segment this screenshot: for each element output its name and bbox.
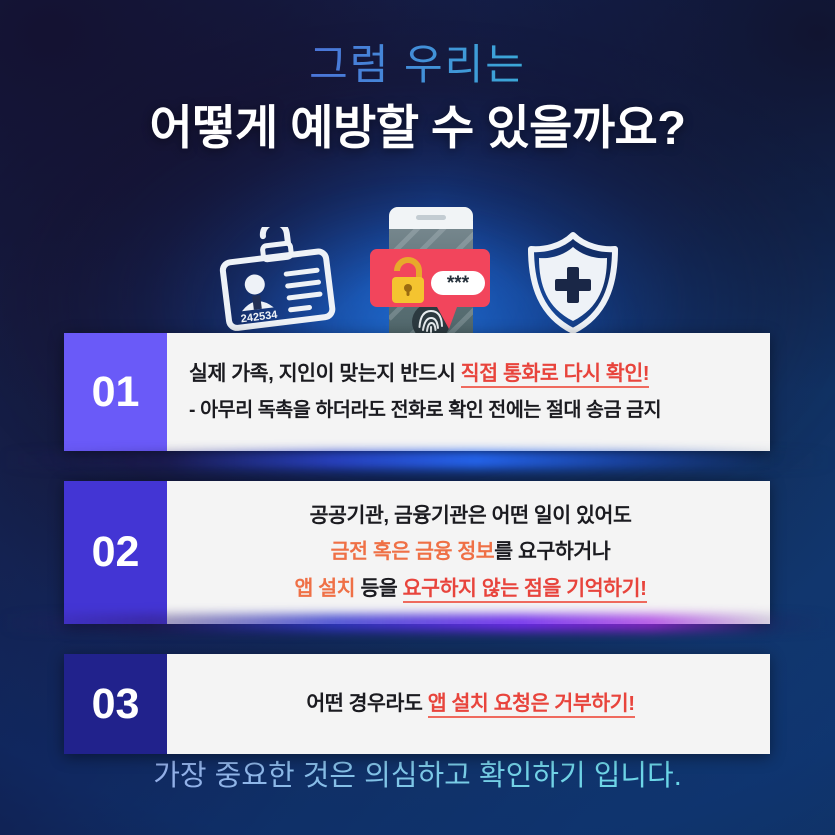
- tip-text-plain: 실제 가족, 지인이 맞는지 반드시: [189, 362, 461, 385]
- tip-text-highlight: 요구하지 않는 점을 기억하기!: [403, 577, 647, 603]
- tip-text-highlight: 앱 설치: [294, 577, 355, 600]
- tip-text-plain: 등을: [355, 577, 403, 600]
- tip-line-02-1: 공공기관, 금융기관은 어떤 일이 있어도: [189, 498, 752, 534]
- icon-row: 242534: [0, 192, 835, 342]
- phone-password-alert-icon-slot: ***: [367, 199, 493, 342]
- id-badge-icon-slot: 242534: [211, 227, 339, 342]
- header-block: 그럼 우리는 어떻게 예방할 수 있을까요?: [0, 42, 835, 155]
- tip-line-03-1: 어떤 경우라도 앱 설치 요청은 거부하기!: [189, 686, 752, 722]
- tip-text-highlight: 앱 설치 요청은 거부하기!: [428, 692, 635, 718]
- shield-plus-icon-slot: [521, 229, 625, 342]
- tip-card-03[interactable]: 03 어떤 경우라도 앱 설치 요청은 거부하기!: [64, 654, 770, 754]
- tip-line-01-2: - 아무리 독촉을 하더라도 전화로 확인 전에는 절대 송금 금지: [189, 393, 752, 428]
- card-gap-glow-blue: [0, 451, 835, 469]
- tips-list: 01 실제 가족, 지인이 맞는지 반드시 직접 통화로 다시 확인! - 아무…: [64, 333, 770, 754]
- header-eyebrow: 그럼 우리는: [0, 42, 835, 88]
- tip-body-03: 어떤 경우라도 앱 설치 요청은 거부하기!: [167, 654, 770, 754]
- tip-number-01: 01: [64, 333, 167, 451]
- tip-text-highlight: 금전 혹은 금융 정보: [331, 540, 495, 563]
- footer-tagline: 가장 중요한 것은 의심하고 확인하기 입니다.: [0, 752, 835, 794]
- tip-text-plain: 공공기관, 금융기관은 어떤 일이 있어도: [310, 504, 632, 527]
- tip-card-01[interactable]: 01 실제 가족, 지인이 맞는지 반드시 직접 통화로 다시 확인! - 아무…: [64, 333, 770, 451]
- tip-card-02[interactable]: 02 공공기관, 금융기관은 어떤 일이 있어도 금전 혹은 금융 정보를 요구…: [64, 481, 770, 624]
- tip-body-01: 실제 가족, 지인이 맞는지 반드시 직접 통화로 다시 확인! - 아무리 독…: [167, 333, 770, 451]
- tip-line-02-2: 금전 혹은 금융 정보를 요구하거나: [189, 534, 752, 570]
- tip-number-02: 02: [64, 481, 167, 624]
- password-mask-text: ***: [446, 273, 469, 294]
- tip-text-highlight: 직접 통화로 다시 확인!: [461, 362, 649, 388]
- tip-number-03: 03: [64, 654, 167, 754]
- phone-password-alert-icon: ***: [367, 199, 493, 349]
- footer-block: 가장 중요한 것은 의심하고 확인하기 입니다.: [0, 752, 835, 794]
- tip-text-plain: - 아무리 독촉을 하더라도 전화로 확인 전에는 절대 송금 금지: [189, 399, 661, 421]
- tip-text-plain: 를 요구하거나: [494, 540, 610, 563]
- shield-plus-icon: [521, 229, 625, 337]
- tip-text-plain: 어떤 경우라도: [306, 692, 427, 715]
- tip-line-01-1: 실제 가족, 지인이 맞는지 반드시 직접 통화로 다시 확인!: [189, 356, 752, 392]
- page-title: 어떻게 예방할 수 있을까요?: [0, 102, 835, 155]
- infographic-canvas: 그럼 우리는 어떻게 예방할 수 있을까요?: [0, 0, 835, 835]
- id-badge-icon: 242534: [211, 227, 339, 337]
- tip-body-02: 공공기관, 금융기관은 어떤 일이 있어도 금전 혹은 금융 정보를 요구하거나…: [167, 481, 770, 624]
- tip-line-02-3: 앱 설치 등을 요구하지 않는 점을 기억하기!: [189, 571, 752, 607]
